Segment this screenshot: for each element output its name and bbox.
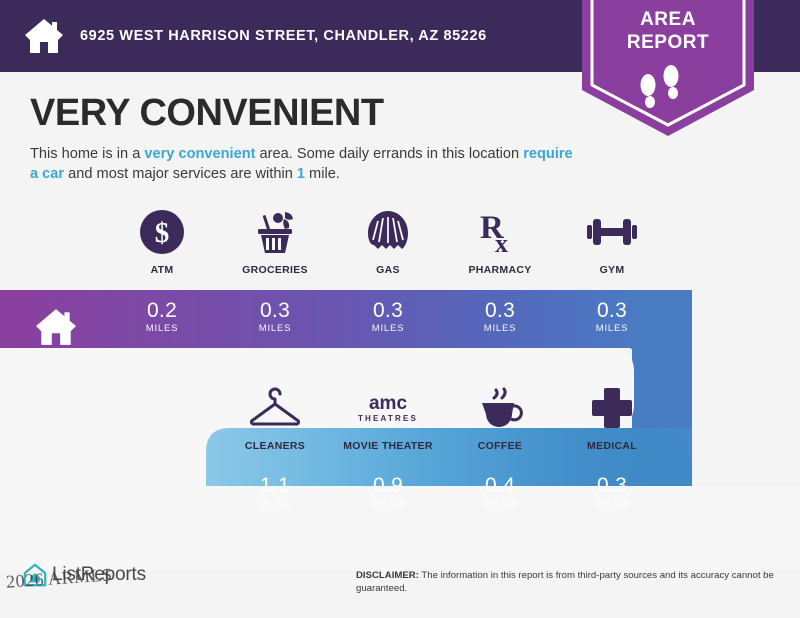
category-label: ATM xyxy=(106,264,218,276)
disclaimer-text: The information in this report is from t… xyxy=(356,570,774,594)
disclaimer: DISCLAIMER: The information in this repo… xyxy=(356,570,776,595)
category-coffee[interactable]: COFFEE xyxy=(444,382,556,452)
pharmacy-rx-icon: R x xyxy=(444,206,556,258)
category-label: GYM xyxy=(556,264,668,276)
category-movie-theater[interactable]: amc THEATRES MOVIE THEATER xyxy=(332,382,444,452)
amc-wordmark: amc xyxy=(369,393,407,414)
page-description: This home is in a very convenient area. … xyxy=(30,144,575,184)
category-gym[interactable]: GYM xyxy=(556,206,668,276)
desc-text-1: This home is in a xyxy=(30,146,144,162)
amc-theatres-icon: amc THEATRES xyxy=(332,382,444,434)
atm-dollar-icon: $ xyxy=(106,206,218,258)
coffee-cup-icon xyxy=(444,382,556,434)
desc-text-3: and most major services are within xyxy=(64,166,297,182)
grocery-basket-icon xyxy=(219,206,331,258)
category-label: COFFEE xyxy=(444,440,556,452)
desc-text-4: mile. xyxy=(305,166,340,182)
category-label: GAS xyxy=(332,264,444,276)
category-pharmacy[interactable]: R x PHARMACY xyxy=(444,206,556,276)
desc-text-2: area. Some daily errands in this locatio… xyxy=(256,146,524,162)
category-label: GROCERIES xyxy=(219,264,331,276)
cleaners-hanger-icon xyxy=(219,382,331,434)
property-address: 6925 WEST HARRISON STREET, CHANDLER, AZ … xyxy=(80,28,487,44)
amc-subtext: THEATRES xyxy=(358,414,418,423)
medical-cross-icon xyxy=(556,382,668,434)
category-medical[interactable]: MEDICAL xyxy=(556,382,668,452)
desc-highlight-1: very convenient xyxy=(144,146,255,162)
disclaimer-label: DISCLAIMER: xyxy=(356,570,419,581)
area-report-badge: AREA REPORT xyxy=(570,0,766,138)
area-report-page: 6925 WEST HARRISON STREET, CHANDLER, AZ … xyxy=(0,0,800,618)
category-label: PHARMACY xyxy=(444,264,556,276)
home-icon xyxy=(22,14,66,58)
category-groceries[interactable]: GROCERIES xyxy=(219,206,331,276)
gym-dumbbell-icon xyxy=(556,206,668,258)
category-gas[interactable]: GAS xyxy=(332,206,444,276)
gas-shell-icon xyxy=(332,206,444,258)
desc-highlight-3: 1 xyxy=(297,166,305,182)
svg-text:$: $ xyxy=(155,217,170,249)
category-atm[interactable]: $ ATM xyxy=(106,206,218,276)
page-title: VERY CONVENIENT xyxy=(30,92,384,135)
ribbon-home-icon xyxy=(34,307,78,347)
category-cleaners[interactable]: CLEANERS xyxy=(219,382,331,452)
category-label: MEDICAL xyxy=(556,440,668,452)
svg-text:x: x xyxy=(495,229,508,256)
category-label: MOVIE THEATER xyxy=(332,440,444,452)
category-label: CLEANERS xyxy=(219,440,331,452)
